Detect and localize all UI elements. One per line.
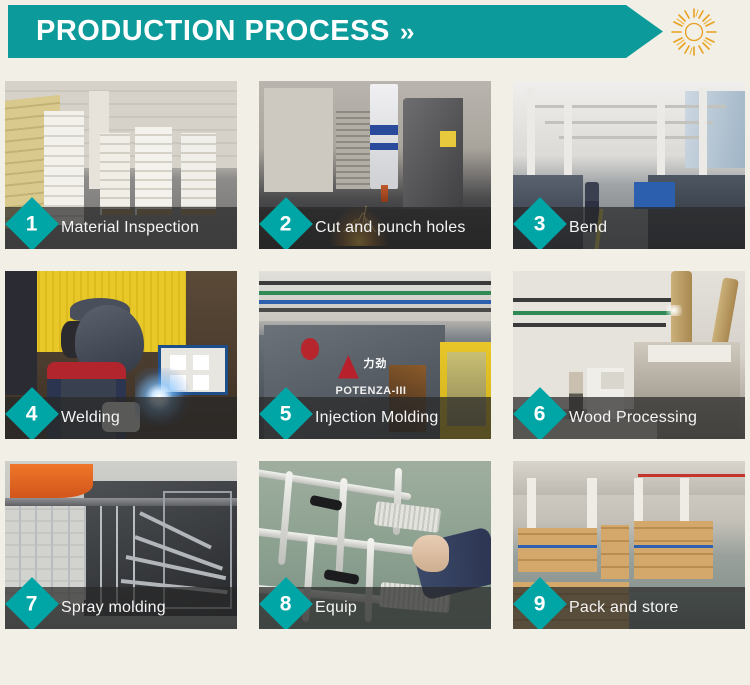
process-step-card[interactable]: Spray molding 7 xyxy=(5,461,237,629)
process-step-card[interactable]: 力劲 POTENZA-III Injection Molding 5 xyxy=(259,271,491,439)
process-step-card[interactable]: Material Inspection 1 xyxy=(5,81,237,249)
step-label: Equip xyxy=(315,599,357,617)
step-number: 6 xyxy=(534,404,546,425)
step-label: Bend xyxy=(569,219,607,237)
step-label: Material Inspection xyxy=(61,219,199,237)
process-step-card[interactable]: Cut and punch holes 2 xyxy=(259,81,491,249)
step-number: 2 xyxy=(280,214,292,235)
step-label: Wood Processing xyxy=(569,409,697,427)
step-number: 7 xyxy=(26,594,38,615)
step-label: Injection Molding xyxy=(315,409,438,427)
machine-model-label: POTENZA-III xyxy=(336,385,407,397)
step-number: 8 xyxy=(280,594,292,615)
production-process-banner: PRODUCTION PROCESS ›› xyxy=(8,5,663,58)
process-step-card[interactable]: Bend 3 xyxy=(513,81,745,249)
step-label: Spray molding xyxy=(61,599,166,617)
page-title: PRODUCTION PROCESS xyxy=(36,15,390,48)
process-step-card[interactable]: Welding 4 xyxy=(5,271,237,439)
process-steps-grid: Material Inspection 1 xyxy=(5,81,745,629)
step-number: 3 xyxy=(534,214,546,235)
process-step-card[interactable]: Wood Processing 6 xyxy=(513,271,745,439)
step-number: 5 xyxy=(280,404,292,425)
banner-inner: PRODUCTION PROCESS ›› xyxy=(8,15,412,48)
step-label: Cut and punch holes xyxy=(315,219,466,237)
machine-brand-cn: 力劲 xyxy=(363,355,387,371)
double-chevron-right-icon: ›› xyxy=(400,18,413,47)
page-header: PRODUCTION PROCESS ›› xyxy=(0,5,750,63)
step-number: 9 xyxy=(534,594,546,615)
step-label: Pack and store xyxy=(569,599,679,617)
step-number: 1 xyxy=(26,214,38,235)
step-number: 4 xyxy=(26,404,38,425)
step-label: Welding xyxy=(61,409,120,427)
sunburst-icon xyxy=(668,7,720,57)
process-step-card[interactable]: Equip 8 xyxy=(259,461,491,629)
process-step-card[interactable]: Pack and store 9 xyxy=(513,461,745,629)
